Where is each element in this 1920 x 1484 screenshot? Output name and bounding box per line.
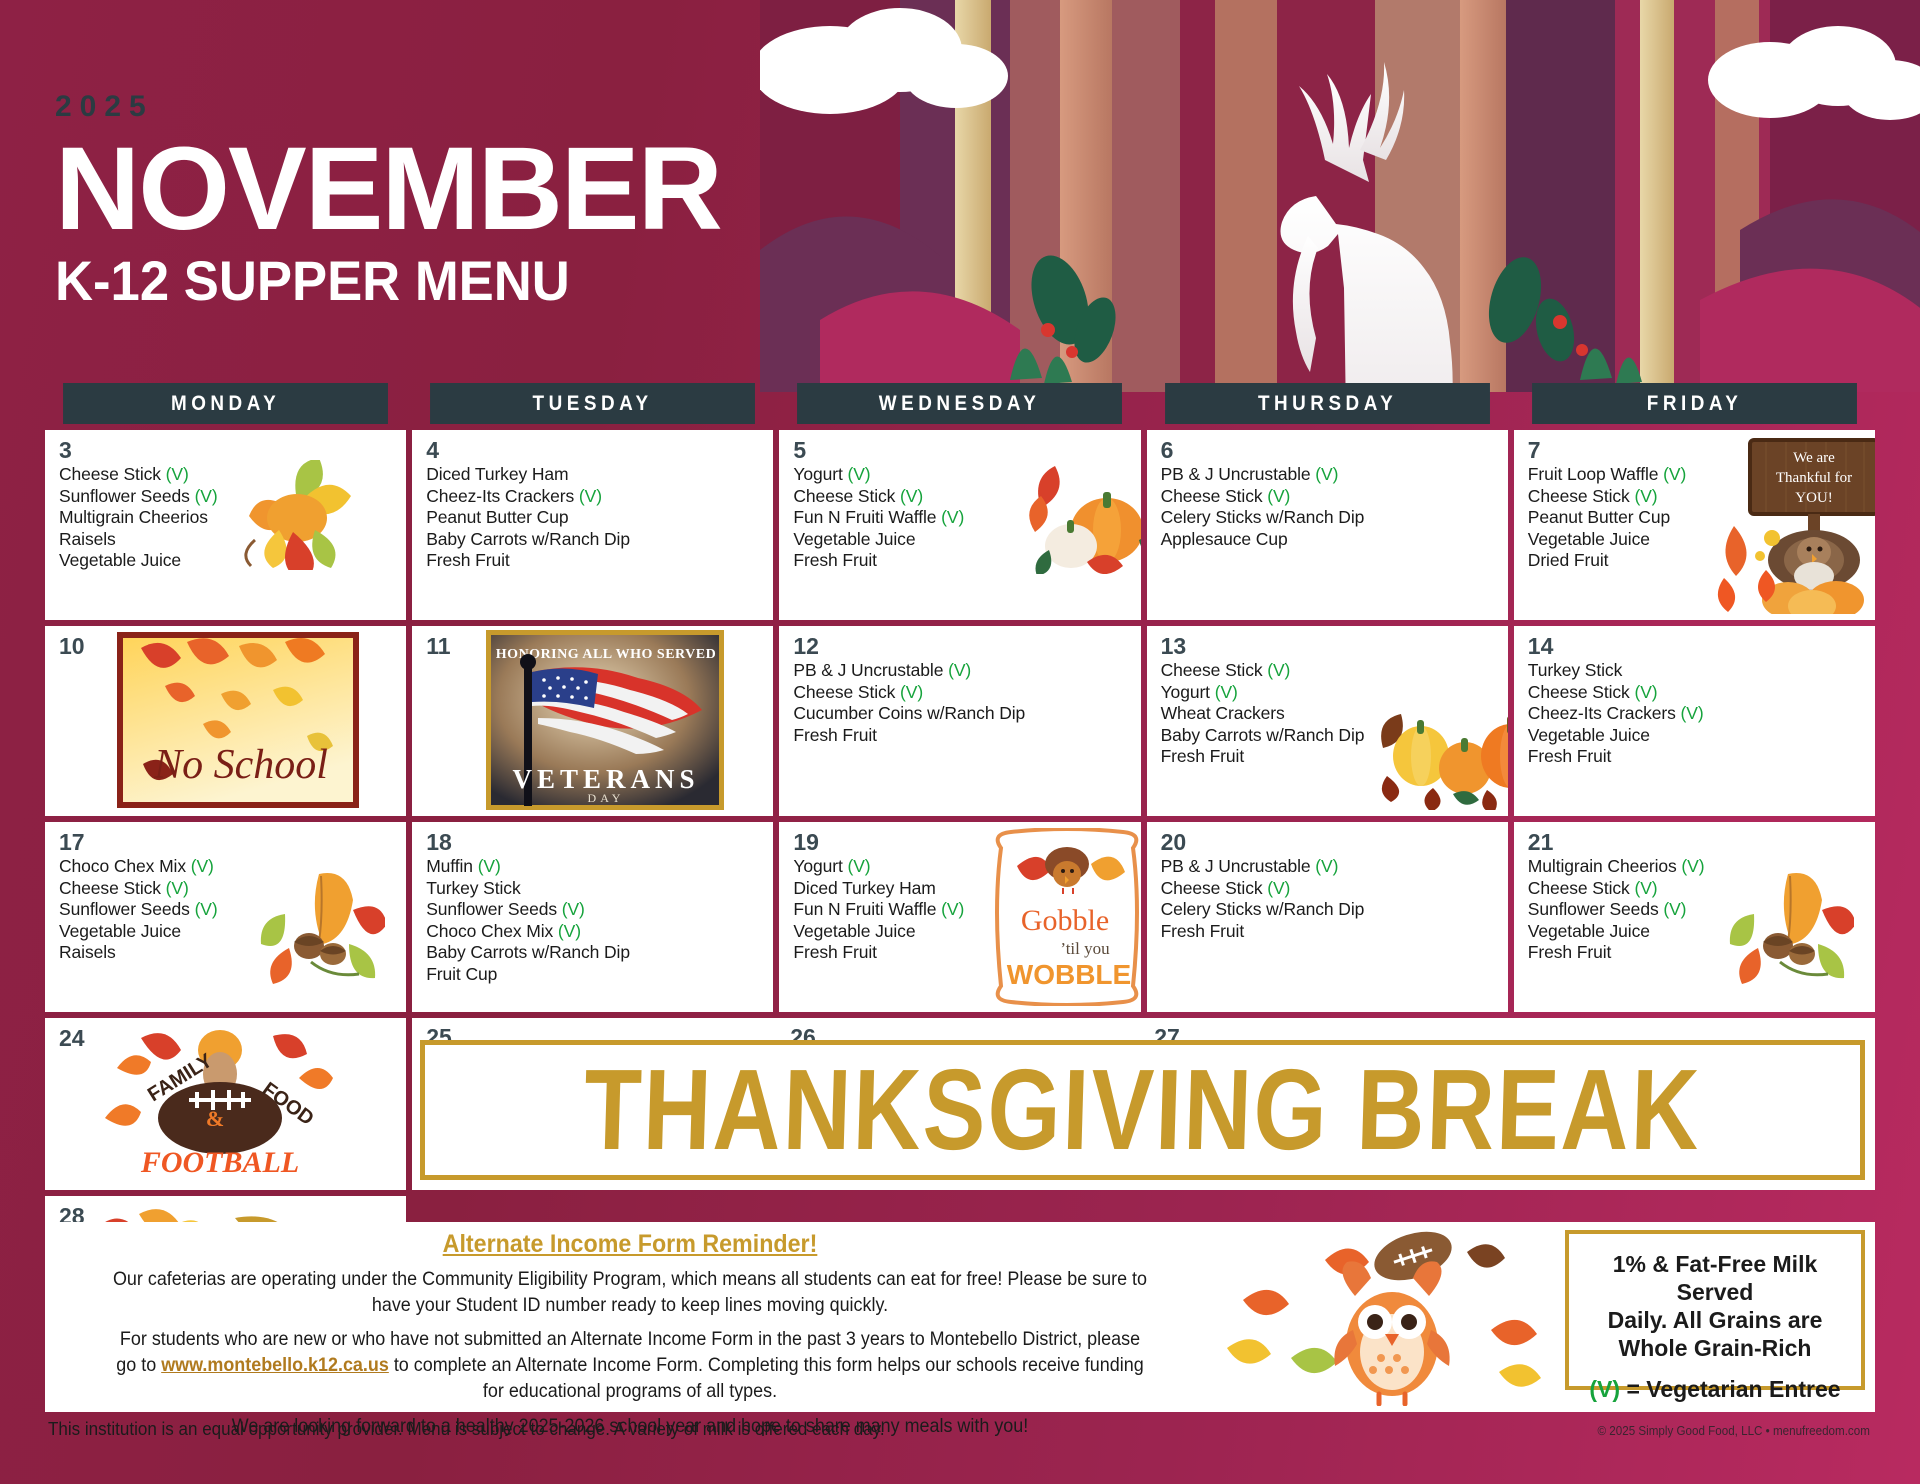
footer-illustration-area [1205,1222,1565,1412]
menu-item: Raisels [59,529,396,551]
vegetarian-marker: (V) [1658,464,1686,484]
day-number: 7 [1528,438,1865,462]
menu-item: Cheese Stick (V) [793,682,1130,704]
day-cell-17[interactable]: 17Choco Chex Mix (V)Cheese Stick (V)Sunf… [45,822,406,1012]
menu-calendar-page: 2025 NOVEMBER K-12 SUPPER MENU MONDAY TU… [0,0,1920,1484]
menu-item: Cheese Stick (V) [1161,878,1498,900]
menu-item: Choco Chex Mix (V) [59,856,396,878]
menu-item: Peanut Butter Cup [426,507,763,529]
day-number: 12 [793,634,1130,658]
vegetarian-marker: (V) [473,856,501,876]
day-number: 11 [426,634,763,658]
day-cell-11[interactable]: 11 HONORING ALL WHO SERVED V [412,626,773,816]
day-number: 3 [59,438,396,462]
menu-item: Yogurt (V) [1161,682,1498,704]
menu-item: Cucumber Coins w/Ranch Dip [793,703,1130,725]
menu-item: Yogurt (V) [793,464,1130,486]
menu-item-list: Cheese Stick (V)Yogurt (V)Wheat Crackers… [1161,660,1498,768]
menu-item: Cheese Stick (V) [1528,682,1865,704]
day-cell-3[interactable]: 3Cheese Stick (V)Sunflower Seeds (V)Mult… [45,430,406,620]
footer-panel: Alternate Income Form Reminder! Our cafe… [45,1222,1875,1412]
calendar-week-1: 3Cheese Stick (V)Sunflower Seeds (V)Mult… [45,430,1875,620]
menu-item: Fun N Fruiti Waffle (V) [793,899,1130,921]
svg-text:DAY: DAY [588,791,625,805]
vegetarian-marker: (V) [895,682,923,702]
dow-thursday: THURSDAY [1165,383,1490,424]
menu-item: Dried Fruit [1528,550,1865,572]
menu-item-list: Turkey StickCheese Stick (V)Cheez-Its Cr… [1528,660,1865,768]
menu-item: Muffin (V) [426,856,763,878]
menu-item-list: PB & J Uncrustable (V)Cheese Stick (V)Ce… [1161,464,1498,550]
milk-and-grains-box: 1% & Fat-Free Milk Served Daily. All Gra… [1565,1230,1865,1390]
dow-monday: MONDAY [63,383,388,424]
menu-item: Cheez-Its Crackers (V) [426,486,763,508]
year-label: 2025 [55,90,721,124]
vegetarian-marker: (V) [553,921,581,941]
equal-opportunity-disclaimer: This institution is an equal opportunity… [48,1418,885,1440]
menu-item: Diced Turkey Ham [426,464,763,486]
day-cell-14[interactable]: 14Turkey StickCheese Stick (V)Cheez-Its … [1514,626,1875,816]
menu-item: Wheat Crackers [1161,703,1498,725]
menu-item-list: Multigrain Cheerios (V)Cheese Stick (V)S… [1528,856,1865,964]
papercut-forest-deer-illustration [760,0,1920,392]
vegetarian-marker: (V) [895,486,923,506]
break-label: THANKSGIVING BREAK [582,1044,1703,1176]
vegetarian-marker: (V) [1263,486,1291,506]
menu-item: Yogurt (V) [793,856,1130,878]
day-cell-10[interactable]: 10 No School [45,626,406,816]
menu-item: Cheese Stick (V) [793,486,1130,508]
menu-item: Sunflower Seeds (V) [59,486,396,508]
no-school-autumn-banner: No School [117,632,359,808]
vegetarian-marker: (V) [161,878,189,898]
menu-item: Fresh Fruit [1161,921,1498,943]
menu-item: Sunflower Seeds (V) [59,899,396,921]
menu-item-list: PB & J Uncrustable (V)Cheese Stick (V)Ce… [1161,856,1498,942]
copyright-notice: © 2025 Simply Good Food, LLC • menufreed… [1598,1424,1870,1438]
milk-note-line-1: 1% & Fat-Free Milk Served [1579,1250,1851,1306]
day-number: 6 [1161,438,1498,462]
menu-item: Sunflower Seeds (V) [426,899,763,921]
menu-item: Cheese Stick (V) [1161,486,1498,508]
vegetarian-marker: (V) [936,507,964,527]
vegetarian-marker: (V) [1676,703,1704,723]
calendar-week-2: 10 No School11 HONORING ALL WHO SERVED [45,626,1875,816]
vegetarian-marker: (V) [1263,878,1291,898]
vegetarian-key-text: = Vegetarian Entree [1620,1376,1841,1402]
vegetarian-marker: (V) [190,486,218,506]
day-number: 19 [793,830,1130,854]
vegetarian-symbol: (V) [1589,1376,1620,1402]
menu-item: Vegetable Juice [59,550,396,572]
menu-item: Fresh Fruit [1528,746,1865,768]
vegetarian-marker: (V) [1311,856,1339,876]
vegetarian-marker: (V) [161,464,189,484]
menu-item: Cheese Stick (V) [1161,660,1498,682]
menu-item: Fresh Fruit [793,942,1130,964]
menu-item: Applesauce Cup [1161,529,1498,551]
milk-note-line-2: Daily. All Grains are [1579,1306,1851,1334]
vegetarian-marker: (V) [1677,856,1705,876]
montebello-district-link[interactable]: www.montebello.k12.ca.us [161,1354,389,1376]
day-number: 5 [793,438,1130,462]
menu-item: Baby Carrots w/Ranch Dip [426,529,763,551]
vegetarian-marker: (V) [574,486,602,506]
alternate-income-reminder-title: Alternate Income Form Reminder! [105,1230,1156,1259]
calendar-grid: MONDAY TUESDAY WEDNESDAY THURSDAY FRIDAY… [45,383,1875,1368]
menu-item: Multigrain Cheerios (V) [1528,856,1865,878]
dow-friday: FRIDAY [1532,383,1857,424]
menu-item: Sunflower Seeds (V) [1528,899,1865,921]
vegetarian-key: (V) = Vegetarian Entree [1579,1376,1851,1403]
menu-item: Vegetable Juice [793,529,1130,551]
vegetarian-marker: (V) [1630,486,1658,506]
day-cell-6[interactable]: 6PB & J Uncrustable (V)Cheese Stick (V)C… [1147,430,1508,620]
calendar-week-3: 17Choco Chex Mix (V)Cheese Stick (V)Sunf… [45,822,1875,1012]
bottom-disclaimer-strip: This institution is an equal opportunity… [0,1412,1920,1484]
vegetarian-marker: (V) [557,899,585,919]
menu-subtitle: K-12 SUPPER MENU [55,252,681,311]
vegetarian-marker: (V) [1659,899,1687,919]
day-number: 20 [1161,830,1498,854]
day-cell-13[interactable]: 13Cheese Stick (V)Yogurt (V)Wheat Cracke… [1147,626,1508,816]
menu-item-list: Yogurt (V)Cheese Stick (V)Fun N Fruiti W… [793,464,1130,572]
footer-text-block: Alternate Income Form Reminder! Our cafe… [45,1222,1205,1412]
menu-item: Fresh Fruit [793,550,1130,572]
menu-item: Fun N Fruiti Waffle (V) [793,507,1130,529]
day-cell-5[interactable]: 5Yogurt (V)Cheese Stick (V)Fun N Fruiti … [779,430,1140,620]
menu-item: Vegetable Juice [1528,921,1865,943]
day-cell-4[interactable]: 4Diced Turkey HamCheez-Its Crackers (V)P… [412,430,773,620]
menu-item: Cheese Stick (V) [1528,878,1865,900]
day-cell-12[interactable]: 12PB & J Uncrustable (V)Cheese Stick (V)… [779,626,1140,816]
menu-item: Fruit Cup [426,964,763,986]
month-title: NOVEMBER [55,130,721,248]
day-number: 18 [426,830,763,854]
menu-item-list: Choco Chex Mix (V)Cheese Stick (V)Sunflo… [59,856,396,964]
menu-item: Cheese Stick (V) [1528,486,1865,508]
menu-item-list: Yogurt (V)Diced Turkey HamFun N Fruiti W… [793,856,1130,964]
day-number: 10 [59,634,396,658]
menu-item: Fresh Fruit [1161,746,1498,768]
menu-item: Cheez-Its Crackers (V) [1528,703,1865,725]
menu-item: Vegetable Juice [1528,725,1865,747]
menu-item: Baby Carrots w/Ranch Dip [426,942,763,964]
milk-info-area: 1% & Fat-Free Milk Served Daily. All Gra… [1565,1222,1875,1412]
menu-item: Baby Carrots w/Ranch Dip [1161,725,1498,747]
menu-item: Diced Turkey Ham [793,878,1130,900]
menu-item: Raisels [59,942,396,964]
menu-item: Fruit Loop Waffle (V) [1528,464,1865,486]
header-titles: 2025 NOVEMBER K-12 SUPPER MENU [55,90,721,311]
vegetarian-marker: (V) [936,899,964,919]
header-banner: 2025 NOVEMBER K-12 SUPPER MENU [0,0,1920,392]
menu-item: Cheese Stick (V) [59,878,396,900]
day-number: 21 [1528,830,1865,854]
vegetarian-marker: (V) [843,856,871,876]
menu-item: Peanut Butter Cup [1528,507,1865,529]
svg-text:FOOTBALL: FOOTBALL [140,1146,299,1179]
day-cell-7[interactable]: 7Fruit Loop Waffle (V)Cheese Stick (V)Pe… [1514,430,1875,620]
svg-text:VETERANS: VETERANS [513,764,700,794]
day-number: 14 [1528,634,1865,658]
menu-item: Vegetable Juice [793,921,1130,943]
menu-item: Fresh Fruit [426,550,763,572]
menu-item: Fresh Fruit [1528,942,1865,964]
footer-paragraph-2: For students who are new or who have not… [110,1327,1150,1404]
day-cell-18[interactable]: 18Muffin (V)Turkey StickSunflower Seeds … [412,822,773,1012]
day-number: 13 [1161,634,1498,658]
day-cell-21[interactable]: 21Multigrain Cheerios (V)Cheese Stick (V… [1514,822,1875,1012]
menu-item: Choco Chex Mix (V) [426,921,763,943]
menu-item: Turkey Stick [426,878,763,900]
menu-item: Celery Sticks w/Ranch Dip [1161,899,1498,921]
svg-text:No School: No School [153,742,328,788]
vegetarian-marker: (V) [1311,464,1339,484]
footer-p2-part2: to complete an Alternate Income Form. Co… [389,1354,1144,1402]
break-inner-frame: THANKSGIVING BREAK [420,1040,1865,1180]
svg-text:FAMILY: FAMILY [144,1049,217,1106]
menu-item-list: Cheese Stick (V)Sunflower Seeds (V)Multi… [59,464,396,572]
day-number: 4 [426,438,763,462]
day-number: 24 [59,1026,396,1050]
menu-item: Vegetable Juice [1528,529,1865,551]
day-cell-24[interactable]: 24 [45,1018,406,1190]
menu-item: Cheese Stick (V) [59,464,396,486]
svg-text:&: & [206,1106,224,1131]
menu-item-list: Diced Turkey HamCheez-Its Crackers (V)Pe… [426,464,763,572]
svg-text:FOOD: FOOD [258,1078,318,1130]
menu-item: Celery Sticks w/Ranch Dip [1161,507,1498,529]
vegetarian-marker: (V) [186,856,214,876]
milk-note-line-3: Whole Grain-Rich [1579,1334,1851,1362]
owl [1334,1261,1449,1404]
menu-item-list: Fruit Loop Waffle (V)Cheese Stick (V)Pea… [1528,464,1865,572]
menu-item: Turkey Stick [1528,660,1865,682]
thanksgiving-break-banner: 25 26 27 THANKSGIVING BREAK [412,1018,1875,1190]
owl-football-autumn-leaves-graphic [1205,1226,1565,1406]
menu-item-list: PB & J Uncrustable (V)Cheese Stick (V)Cu… [793,660,1130,746]
vegetarian-marker: (V) [1630,878,1658,898]
day-cell-20[interactable]: 20PB & J Uncrustable (V)Cheese Stick (V)… [1147,822,1508,1012]
vegetarian-marker: (V) [190,899,218,919]
vegetarian-marker: (V) [1263,660,1291,680]
menu-item: PB & J Uncrustable (V) [1161,856,1498,878]
menu-item: PB & J Uncrustable (V) [793,660,1130,682]
menu-item: PB & J Uncrustable (V) [1161,464,1498,486]
menu-item: Fresh Fruit [793,725,1130,747]
footer-paragraph-1: Our cafeterias are operating under the C… [110,1267,1150,1318]
menu-item-list: Muffin (V)Turkey StickSunflower Seeds (V… [426,856,763,985]
dow-tuesday: TUESDAY [430,383,755,424]
vegetarian-marker: (V) [843,464,871,484]
day-of-week-header-row: MONDAY TUESDAY WEDNESDAY THURSDAY FRIDAY [45,383,1875,424]
vegetarian-marker: (V) [1210,682,1238,702]
day-cell-19[interactable]: 19Yogurt (V)Diced Turkey HamFun N Fruiti… [779,822,1140,1012]
menu-item: Multigrain Cheerios [59,507,396,529]
vegetarian-marker: (V) [1630,682,1658,702]
dow-wednesday: WEDNESDAY [797,383,1122,424]
day-number: 17 [59,830,396,854]
menu-item: Vegetable Juice [59,921,396,943]
vegetarian-marker: (V) [943,660,971,680]
